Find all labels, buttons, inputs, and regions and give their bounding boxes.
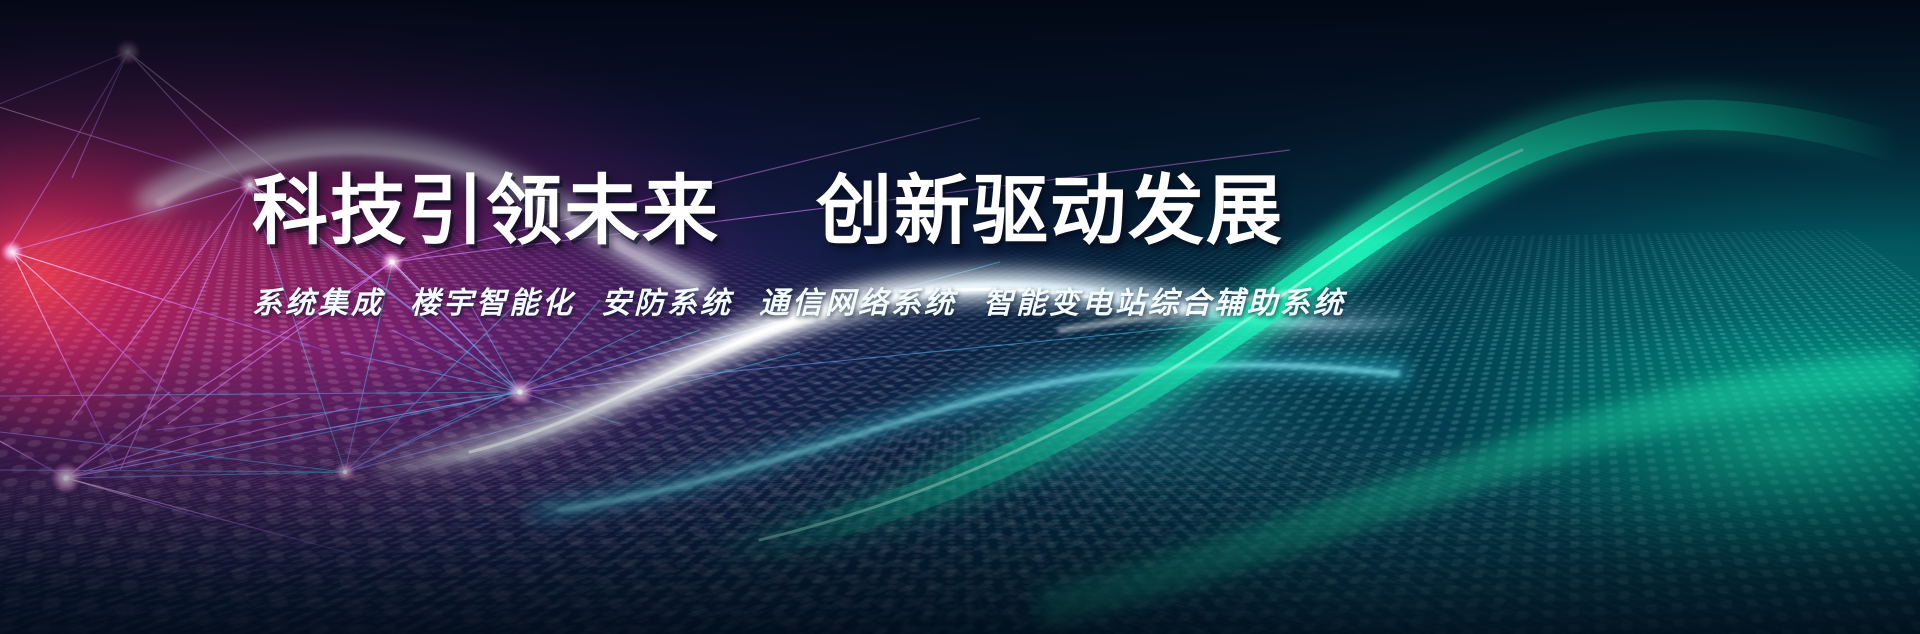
hero-text-block: 科技引领未来 创新驱动发展 系统集成楼宇智能化安防系统通信网络系统智能变电站综合… — [252, 174, 1652, 322]
tech-hero-banner: 科技引领未来 创新驱动发展 系统集成楼宇智能化安防系统通信网络系统智能变电站综合… — [0, 0, 1920, 634]
subtitle-list: 系统集成楼宇智能化安防系统通信网络系统智能变电站综合辅助系统 — [252, 278, 1652, 322]
page-title: 科技引领未来 创新驱动发展 — [252, 174, 1652, 250]
subtitle-item-4: 智能变电站综合辅助系统 — [983, 287, 1346, 320]
headline-part-2: 创新驱动发展 — [816, 174, 1284, 250]
subtitle-item-2: 安防系统 — [601, 287, 733, 320]
subtitle-item-3: 通信网络系统 — [759, 287, 957, 320]
subtitle-item-0: 系统集成 — [252, 287, 384, 320]
subtitle-item-1: 楼宇智能化 — [410, 287, 575, 320]
headline-part-1: 科技引领未来 — [252, 174, 720, 250]
